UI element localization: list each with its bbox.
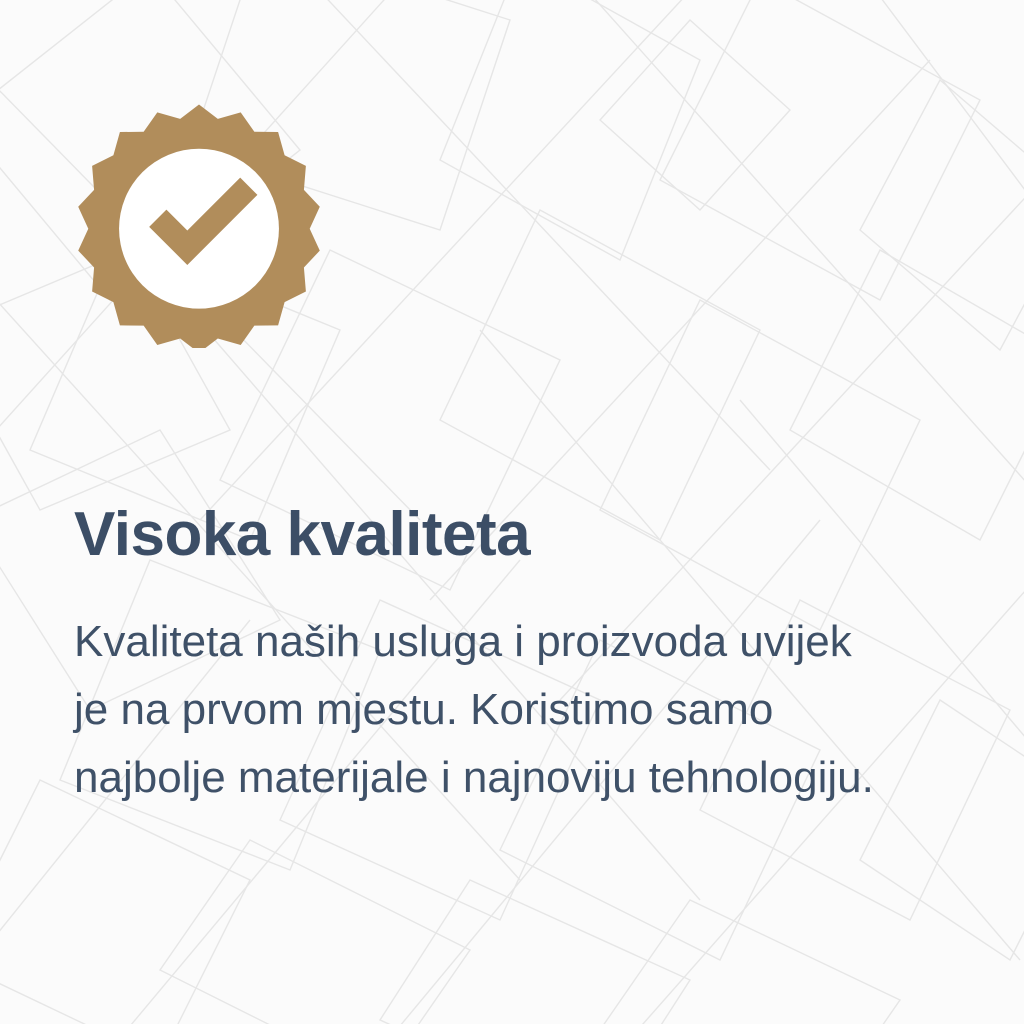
page-title: Visoka kvaliteta (74, 498, 904, 572)
card-description: Kvaliteta naših usluga i proizvoda uvije… (74, 572, 874, 812)
feature-card: Visoka kvaliteta Kvaliteta naših usluga … (0, 0, 1024, 1024)
card-text-block: Visoka kvaliteta Kvaliteta naših usluga … (74, 498, 904, 812)
verified-badge-icon (76, 102, 322, 348)
